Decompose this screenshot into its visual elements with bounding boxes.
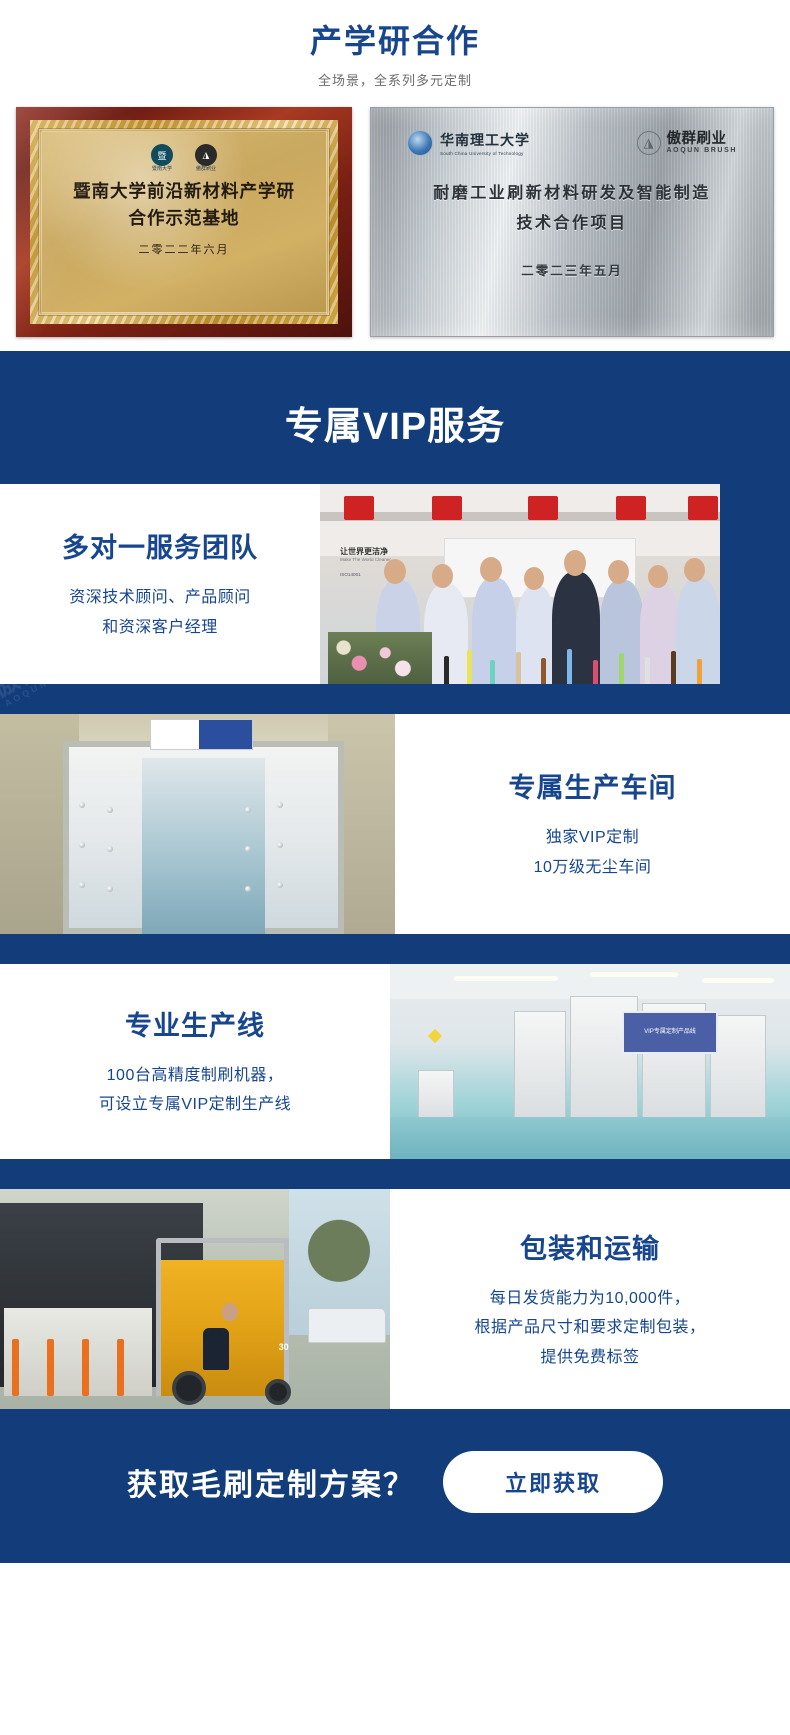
card-title: 多对一服务团队 [62,526,258,565]
plaque-line-1: 耐磨工业刷新材料研发及智能制造 [397,178,747,208]
card-title: 专属生产车间 [509,766,677,805]
plaque-date: 二零二三年五月 [397,260,747,279]
page-subtitle: 全场景，全系列多元定制 [0,70,790,89]
aoqun-mountain-icon: ◮ [195,144,217,166]
vip-card-exclusive-production-workshop: 专属生产车间 独家VIP定制 10万级无尘车间 [0,714,790,934]
plaque-date: 二零二二年六月 [139,241,230,257]
page-title: 产学研合作 [0,22,790,60]
jinan-university-seal-icon: 暨 [151,144,173,166]
aoqun-brush-logo-label: 傲群刷业 [196,167,216,173]
card-text-panel: 包装和运输 每日发货能力为10,000件， 根据产品尺寸和要求定制包装， 提供免… [390,1189,790,1409]
vip-service-section: 傲群刷业AOQUN BRUSH 傲群刷业AOQUN BRUSH 傲群刷业AOQU… [0,351,790,1559]
plaque-scut: 华南理工大学 South China University of Technol… [370,107,774,337]
forklift-loading-container-photo: 30 [0,1189,390,1409]
card-body-line: 可设立专属VIP定制生产线 [99,1090,291,1120]
cleanroom-corridor-photo [0,714,395,934]
scut-logo-label-en: South China University of Technology [440,151,530,156]
cta-bar: 获取毛刷定制方案？ 立即获取 [0,1409,790,1559]
vip-card-professional-production-line: 专业生产线 100台高精度制刷机器， 可设立专属VIP定制生产线 VIP专属定制… [0,964,790,1159]
plaque-gold-face: 暨 暨南大学 ◮ 傲群刷业 暨南大学前沿新材料产学研 合作示范基地 二零二二年六… [39,129,329,315]
card-body-line: 提供免费标签 [474,1343,705,1373]
card-text-panel: 专属生产车间 独家VIP定制 10万级无尘车间 [395,714,790,934]
scut-logo-label-cn: 华南理工大学 [440,130,530,150]
brush-machine-line-photo: VIP专属定制产品线 [390,964,790,1159]
aoqun-brush-logo: ◮ 傲群刷业 [195,144,217,173]
vip-production-line-board: VIP专属定制产品线 [622,1011,718,1054]
jinan-university-logo-label: 暨南大学 [152,167,172,173]
exhibition-booth-team-photo: 让世界更洁净 Make The World Cleaner ISO14001 [320,484,720,684]
certification-plaques: 暨 暨南大学 ◮ 傲群刷业 暨南大学前沿新材料产学研 合作示范基地 二零二二年六… [0,107,790,351]
card-body-line: 和资深客户经理 [69,613,251,643]
card-title: 专业生产线 [125,1004,265,1043]
forklift-model-number: 30 [279,1342,289,1352]
card-title: 包装和运输 [520,1227,660,1266]
workshop-sign [150,719,253,750]
plaque-gold-bevel: 暨 暨南大学 ◮ 傲群刷业 暨南大学前沿新材料产学研 合作示范基地 二零二二年六… [30,120,338,324]
card-text-panel: 专业生产线 100台高精度制刷机器， 可设立专属VIP定制生产线 [0,964,390,1159]
vip-section-title: 专属VIP服务 [0,351,790,484]
aoqun-logo-label-cn: 傲群刷业 [667,132,738,147]
cta-question: 获取毛刷定制方案？ [127,1460,415,1504]
card-body-line: 资深技术顾问、产品顾问 [69,583,251,613]
plaque-line-2: 合作示范基地 [129,206,240,233]
page-header: 产学研合作 全场景，全系列多元定制 [0,0,790,89]
jinan-university-logo: 暨 暨南大学 [151,144,173,173]
scut-logo: 华南理工大学 South China University of Technol… [407,130,530,156]
card-body-line: 独家VIP定制 [534,823,652,853]
aoqun-mountain-icon: ◮ [637,131,661,155]
card-body-line: 100台高精度制刷机器， [99,1061,291,1091]
plaque-logo-row: 华南理工大学 South China University of Technol… [397,130,747,156]
card-body-line: 每日发货能力为10,000件， [474,1284,705,1314]
scut-seal-icon [407,130,433,156]
plaque-logo-row: 暨 暨南大学 ◮ 傲群刷业 [151,144,217,173]
aoqun-brush-logo: ◮ 傲群刷业 AOQUN BRUSH [637,131,738,155]
booth-slogan: 让世界更洁净 Make The World Cleaner [340,546,391,562]
get-quote-button[interactable]: 立即获取 [443,1451,663,1513]
aoqun-logo-label-en: AOQUN BRUSH [667,147,738,154]
plaque-jinan-university: 暨 暨南大学 ◮ 傲群刷业 暨南大学前沿新材料产学研 合作示范基地 二零二二年六… [16,107,352,337]
plaque-line-2: 技术合作项目 [397,208,747,238]
card-body-line: 根据产品尺寸和要求定制包装， [474,1313,705,1343]
card-body-line: 10万级无尘车间 [534,853,652,883]
vip-card-packing-and-shipping: 30 包装和运输 每日发货能力为10,000件， 根据产品尺寸和要求定制包装， … [0,1189,790,1409]
bottom-rule [0,1559,790,1563]
card-text-panel: 多对一服务团队 资深技术顾问、产品顾问 和资深客户经理 [0,484,320,684]
vip-card-multi-to-one-service-team: 多对一服务团队 资深技术顾问、产品顾问 和资深客户经理 让世界更洁净 Make … [0,484,790,684]
booth-certificate-text: ISO14001 [340,572,361,577]
plaque-line-1: 暨南大学前沿新材料产学研 [73,179,295,206]
